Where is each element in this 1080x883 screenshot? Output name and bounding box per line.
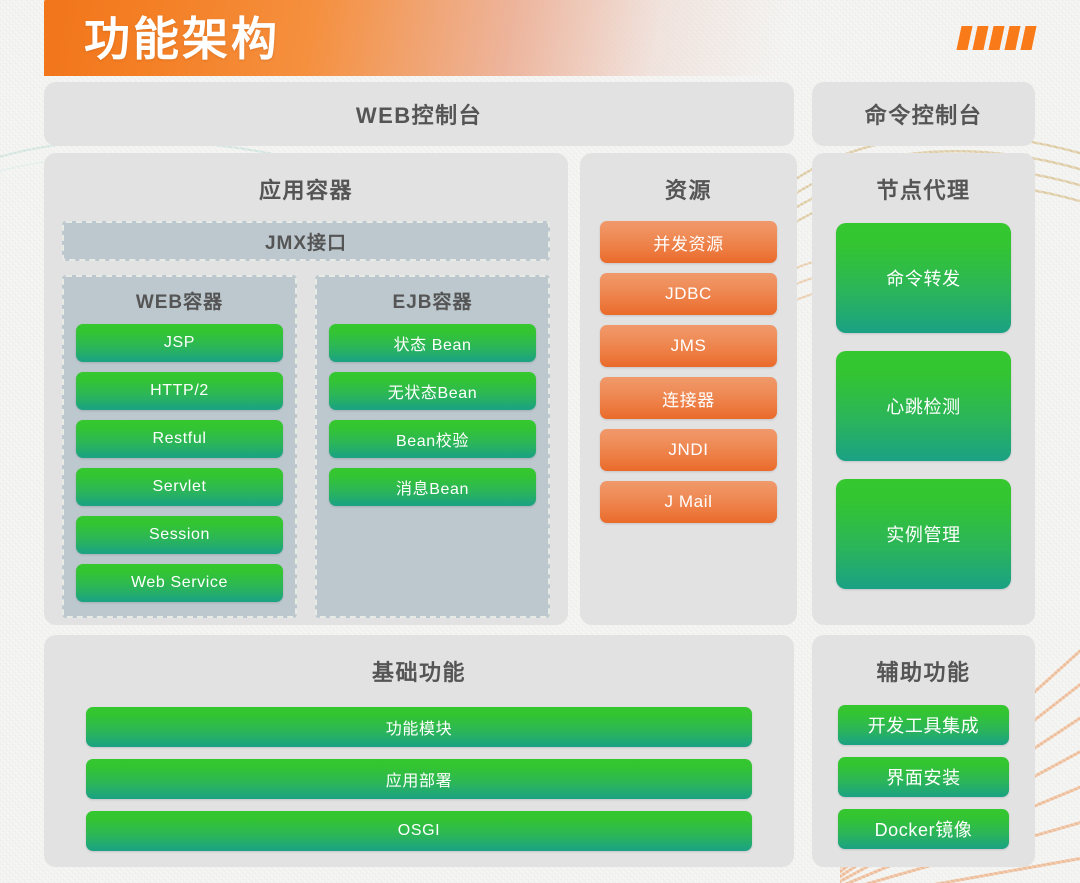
- list-item[interactable]: JNDI: [600, 429, 777, 471]
- node-agent-items: 命令转发 心跳检测 实例管理: [812, 223, 1035, 589]
- page-title: 功能架构: [84, 6, 280, 72]
- list-item[interactable]: 心跳检测: [836, 351, 1011, 461]
- web-console-label: WEB控制台: [356, 98, 482, 130]
- list-item[interactable]: 开发工具集成: [838, 705, 1009, 745]
- list-item[interactable]: 并发资源: [600, 221, 777, 263]
- ejb-container-items: 状态 Bean 无状态Bean Bean校验 消息Bean: [329, 324, 536, 506]
- ejb-container-panel: EJB容器 状态 Bean 无状态Bean Bean校验 消息Bean: [315, 275, 550, 618]
- list-item[interactable]: 命令转发: [836, 223, 1011, 333]
- list-item[interactable]: 界面安装: [838, 757, 1009, 797]
- list-item[interactable]: JDBC: [600, 273, 777, 315]
- command-console-label: 命令控制台: [865, 98, 983, 130]
- web-console-panel[interactable]: WEB控制台: [44, 82, 794, 146]
- list-item[interactable]: J Mail: [600, 481, 777, 523]
- architecture-diagram: 功能架构 WEB控制台 命令控制台 应用容器 JMX接口 WEB容器 JSP H…: [0, 0, 1080, 883]
- accent-bar-5: [1020, 26, 1036, 50]
- node-agent-title: 节点代理: [812, 173, 1035, 205]
- app-container-title: 应用容器: [44, 173, 568, 205]
- list-item[interactable]: 应用部署: [86, 759, 752, 799]
- list-item[interactable]: HTTP/2: [76, 372, 283, 410]
- list-item[interactable]: 无状态Bean: [329, 372, 536, 410]
- aux-function-items: 开发工具集成 界面安装 Docker镜像: [812, 705, 1035, 849]
- list-item[interactable]: 连接器: [600, 377, 777, 419]
- basic-function-title: 基础功能: [44, 655, 794, 687]
- web-container-panel: WEB容器 JSP HTTP/2 Restful Servlet Session…: [62, 275, 297, 618]
- aux-function-panel: 辅助功能 开发工具集成 界面安装 Docker镜像: [812, 635, 1035, 867]
- aux-function-title: 辅助功能: [812, 655, 1035, 687]
- list-item[interactable]: Restful: [76, 420, 283, 458]
- list-item[interactable]: Servlet: [76, 468, 283, 506]
- resource-panel: 资源 并发资源 JDBC JMS 连接器 JNDI J Mail: [580, 153, 797, 625]
- resource-items: 并发资源 JDBC JMS 连接器 JNDI J Mail: [580, 221, 797, 523]
- list-item[interactable]: 功能模块: [86, 707, 752, 747]
- list-item[interactable]: OSGI: [86, 811, 752, 851]
- list-item[interactable]: 状态 Bean: [329, 324, 536, 362]
- accent-bar-1: [956, 26, 972, 50]
- list-item[interactable]: 实例管理: [836, 479, 1011, 589]
- accent-bar-3: [988, 26, 1004, 50]
- accent-bar-2: [972, 26, 988, 50]
- jmx-interface-label: JMX接口: [265, 228, 347, 255]
- ejb-container-title: EJB容器: [329, 287, 536, 314]
- jmx-interface-bar[interactable]: JMX接口: [62, 221, 550, 261]
- header-accent-bars: [959, 26, 1034, 50]
- web-container-title: WEB容器: [76, 287, 283, 314]
- list-item[interactable]: 消息Bean: [329, 468, 536, 506]
- accent-bar-4: [1004, 26, 1020, 50]
- list-item[interactable]: Session: [76, 516, 283, 554]
- resource-title: 资源: [580, 173, 797, 205]
- list-item[interactable]: JSP: [76, 324, 283, 362]
- list-item[interactable]: Bean校验: [329, 420, 536, 458]
- basic-function-panel: 基础功能 功能模块 应用部署 OSGI: [44, 635, 794, 867]
- list-item[interactable]: Docker镜像: [838, 809, 1009, 849]
- web-container-items: JSP HTTP/2 Restful Servlet Session Web S…: [76, 324, 283, 602]
- list-item[interactable]: Web Service: [76, 564, 283, 602]
- container-sub-row: WEB容器 JSP HTTP/2 Restful Servlet Session…: [62, 275, 550, 618]
- list-item[interactable]: JMS: [600, 325, 777, 367]
- app-container-panel: 应用容器 JMX接口 WEB容器 JSP HTTP/2 Restful Serv…: [44, 153, 568, 625]
- node-agent-panel: 节点代理 命令转发 心跳检测 实例管理: [812, 153, 1035, 625]
- command-console-panel[interactable]: 命令控制台: [812, 82, 1035, 146]
- basic-function-items: 功能模块 应用部署 OSGI: [44, 707, 794, 851]
